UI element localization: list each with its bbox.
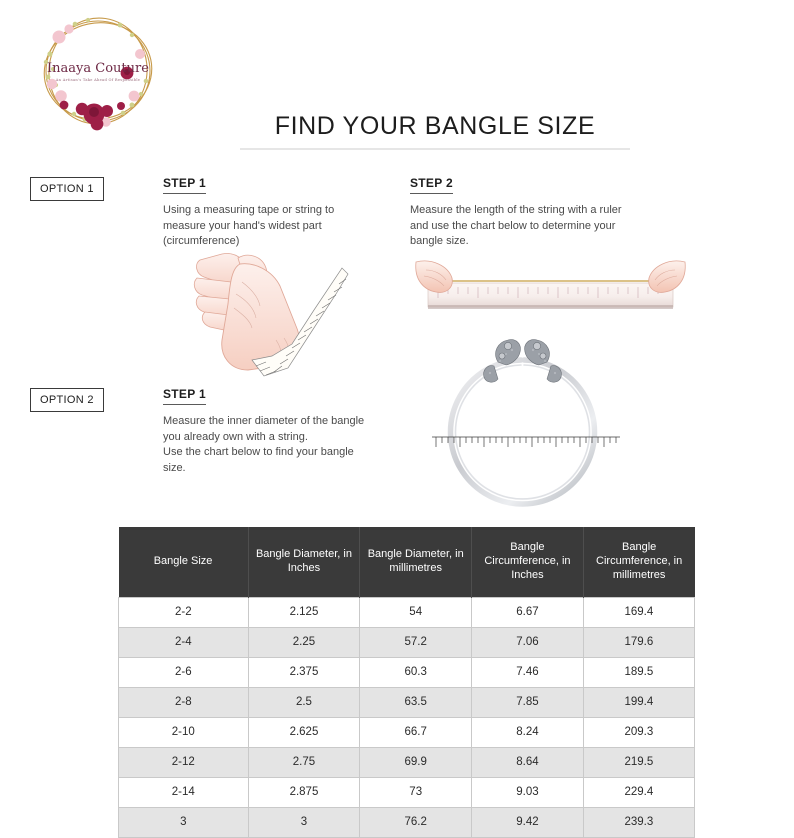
cell-value: 7.85 bbox=[472, 687, 584, 717]
cell-value: 69.9 bbox=[360, 747, 472, 777]
cell-value: 9.42 bbox=[472, 807, 584, 837]
cell-value: 2.25 bbox=[248, 627, 360, 657]
option-2-step-1: STEP 1 Measure the inner diameter of the… bbox=[163, 385, 408, 476]
page-title: FIND YOUR BANGLE SIZE bbox=[240, 112, 630, 141]
step-line: measure your hand's widest part bbox=[163, 219, 363, 235]
step-description: Using a measuring tape or string to meas… bbox=[163, 203, 363, 250]
option-1-step-2: STEP 2 Measure the length of the string … bbox=[410, 174, 670, 250]
step-line: Use the chart below to find your bangle bbox=[163, 445, 408, 461]
cell-value: 209.3 bbox=[583, 717, 694, 747]
cell-value: 169.4 bbox=[583, 597, 694, 627]
table-row: 2-42.2557.27.06179.6 bbox=[119, 627, 695, 657]
cell-value: 199.4 bbox=[583, 687, 694, 717]
cell-bangle-size: 2-2 bbox=[119, 597, 249, 627]
cell-value: 57.2 bbox=[360, 627, 472, 657]
step-title: STEP 1 bbox=[163, 176, 206, 194]
cell-bangle-size: 2-12 bbox=[119, 747, 249, 777]
cell-bangle-size: 3 bbox=[119, 807, 249, 837]
brand-logo: Inaaya Couture An Artisan's Take Ahead O… bbox=[28, 8, 168, 136]
cell-bangle-size: 2-14 bbox=[119, 777, 249, 807]
cell-value: 189.5 bbox=[583, 657, 694, 687]
column-header-diameter-mm: Bangle Diameter, in millimetres bbox=[360, 527, 472, 597]
cell-value: 2.625 bbox=[248, 717, 360, 747]
step-line: Using a measuring tape or string to bbox=[163, 203, 363, 219]
cell-value: 7.06 bbox=[472, 627, 584, 657]
column-header-bangle-size: Bangle Size bbox=[119, 527, 249, 597]
cell-value: 73 bbox=[360, 777, 472, 807]
step-description: Measure the length of the string with a … bbox=[410, 203, 670, 250]
cell-value: 6.67 bbox=[472, 597, 584, 627]
step-line: Measure the length of the string with a … bbox=[410, 203, 670, 219]
column-header-circumference-mm: Bangle Circumference, in millimetres bbox=[583, 527, 694, 597]
cell-value: 239.3 bbox=[583, 807, 694, 837]
cell-bangle-size: 2-6 bbox=[119, 657, 249, 687]
cell-value: 9.03 bbox=[472, 777, 584, 807]
table-row: 2-82.563.57.85199.4 bbox=[119, 687, 695, 717]
cell-value: 229.4 bbox=[583, 777, 694, 807]
cell-value: 60.3 bbox=[360, 657, 472, 687]
cell-value: 3 bbox=[248, 807, 360, 837]
cell-value: 179.6 bbox=[583, 627, 694, 657]
title-divider bbox=[240, 148, 630, 150]
silver-bangle-with-ruler-illustration bbox=[420, 332, 625, 517]
cell-value: 2.125 bbox=[248, 597, 360, 627]
cell-value: 8.64 bbox=[472, 747, 584, 777]
page-header: FIND YOUR BANGLE SIZE bbox=[240, 112, 630, 150]
option-1-badge: OPTION 1 bbox=[30, 177, 104, 201]
step-line: and use the chart below to determine you… bbox=[410, 219, 670, 235]
cell-value: 8.24 bbox=[472, 717, 584, 747]
cell-value: 7.46 bbox=[472, 657, 584, 687]
cell-value: 54 bbox=[360, 597, 472, 627]
column-header-circumference-inches: Bangle Circumference, in Inches bbox=[472, 527, 584, 597]
cell-bangle-size: 2-4 bbox=[119, 627, 249, 657]
table-row: 2-102.62566.78.24209.3 bbox=[119, 717, 695, 747]
step-title: STEP 1 bbox=[163, 387, 206, 405]
table-row: 2-22.125546.67169.4 bbox=[119, 597, 695, 627]
step-line: bangle size. bbox=[410, 234, 670, 250]
cell-value: 76.2 bbox=[360, 807, 472, 837]
step-line: Measure the inner diameter of the bangle bbox=[163, 414, 408, 430]
step-description: Measure the inner diameter of the bangle… bbox=[163, 414, 408, 476]
column-header-diameter-inches: Bangle Diameter, in Inches bbox=[248, 527, 360, 597]
hand-with-measuring-tape-illustration bbox=[192, 248, 372, 380]
step-line: you already own with a string. bbox=[163, 430, 408, 446]
cell-value: 63.5 bbox=[360, 687, 472, 717]
table-row: 2-62.37560.37.46189.5 bbox=[119, 657, 695, 687]
cell-bangle-size: 2-10 bbox=[119, 717, 249, 747]
step-title: STEP 2 bbox=[410, 176, 453, 194]
table-row: 2-122.7569.98.64219.5 bbox=[119, 747, 695, 777]
cell-value: 2.75 bbox=[248, 747, 360, 777]
table-header-row: Bangle Size Bangle Diameter, in Inches B… bbox=[119, 527, 695, 597]
table-row: 3376.29.42239.3 bbox=[119, 807, 695, 837]
brand-name: Inaaya Couture bbox=[47, 61, 149, 76]
step-line: size. bbox=[163, 461, 408, 477]
cell-value: 2.5 bbox=[248, 687, 360, 717]
bangle-size-table: Bangle Size Bangle Diameter, in Inches B… bbox=[118, 527, 695, 838]
cell-value: 2.375 bbox=[248, 657, 360, 687]
table-row: 2-142.875739.03229.4 bbox=[119, 777, 695, 807]
brand-tagline: An Artisan's Take Ahead Of Responsible bbox=[55, 78, 140, 82]
option-1-step-1: STEP 1 Using a measuring tape or string … bbox=[163, 174, 363, 250]
cell-value: 2.875 bbox=[248, 777, 360, 807]
cell-value: 219.5 bbox=[583, 747, 694, 777]
cell-bangle-size: 2-8 bbox=[119, 687, 249, 717]
option-2-badge: OPTION 2 bbox=[30, 388, 104, 412]
hands-holding-string-on-ruler-illustration bbox=[408, 250, 693, 328]
cell-value: 66.7 bbox=[360, 717, 472, 747]
